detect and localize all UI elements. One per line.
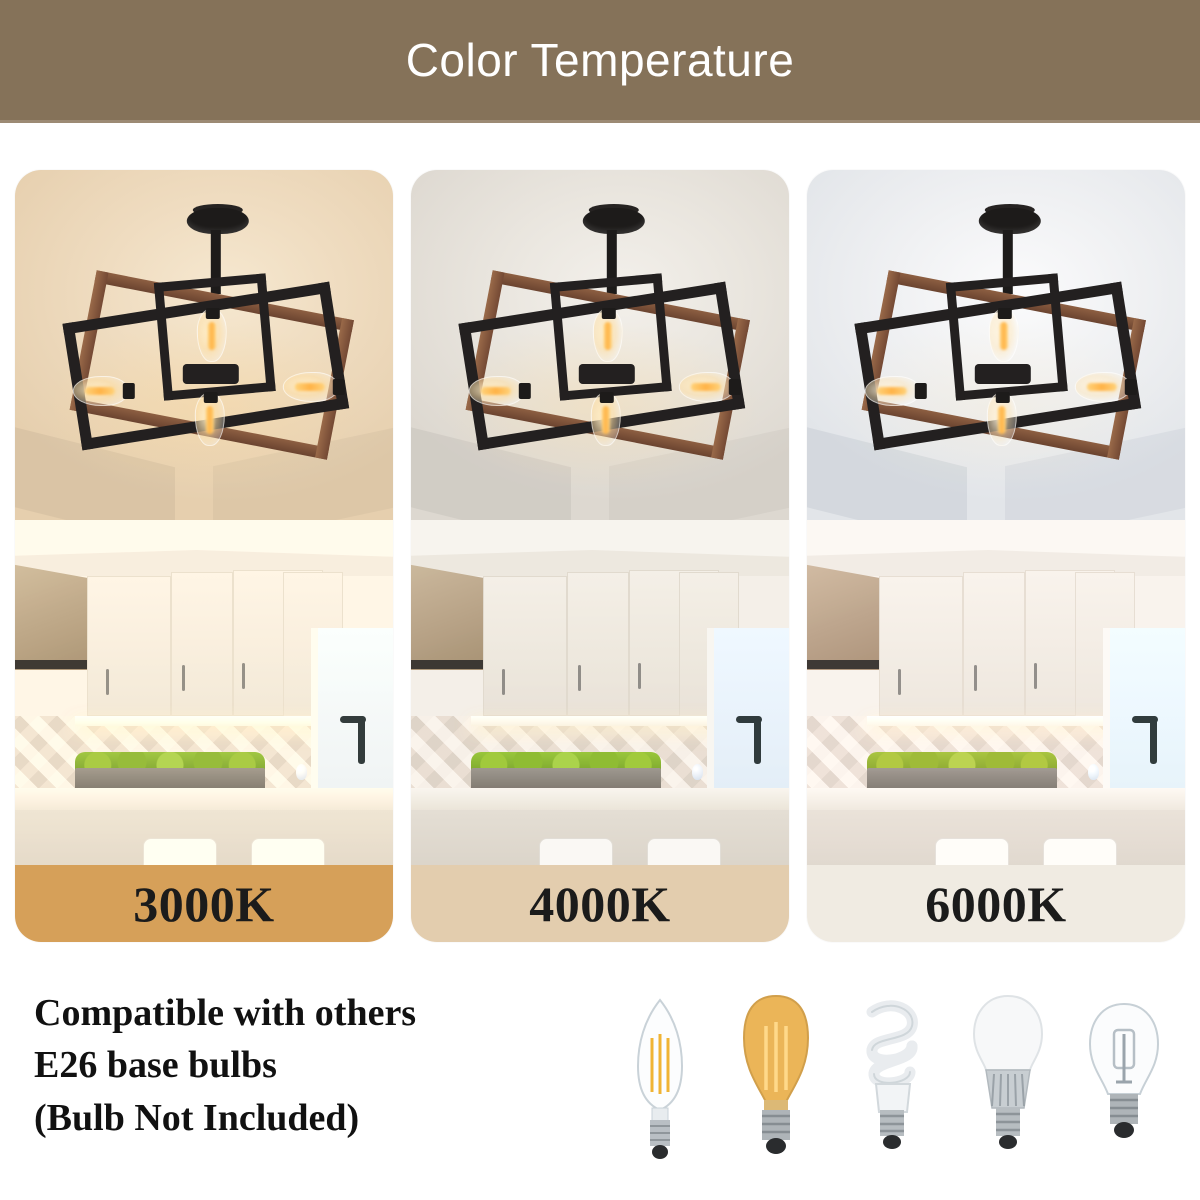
color-temp-band-6000k: 6000K: [807, 865, 1185, 942]
bar-stool: [935, 838, 1009, 865]
compat-line-2: E26 base bulbs: [34, 1039, 574, 1091]
ceiling-scene-3000k: [15, 170, 393, 520]
countertop: [15, 788, 393, 810]
upper-cabinet: [963, 572, 1025, 716]
under-cabinet-light: [75, 716, 335, 726]
kitchen-scene-6000k: [807, 520, 1185, 865]
ceiling-scene-4000k: [411, 170, 789, 520]
color-temp-label: 4000K: [529, 879, 670, 929]
upper-cabinet: [483, 576, 567, 716]
kitchen-scene-4000k: [411, 520, 789, 865]
edison-bulb-left: [73, 376, 135, 406]
faucet: [754, 716, 761, 764]
small-vase: [1088, 764, 1099, 780]
edison-bulb-left: [469, 376, 531, 406]
panel-6000k[interactable]: 6000K: [807, 170, 1185, 942]
countertop: [807, 788, 1185, 810]
color-temp-label: 3000K: [133, 879, 274, 929]
ceiling-light-fixture: [833, 198, 1173, 498]
ceiling-light-fixture: [437, 198, 777, 498]
header-divider: [0, 120, 1200, 123]
panel-4000k[interactable]: 4000K: [411, 170, 789, 942]
edison-bulb-back: [593, 308, 623, 368]
kitchen-scene-3000k: [15, 520, 393, 865]
compatible-bulb-strip: [612, 981, 1172, 1166]
color-temp-band-3000k: 3000K: [15, 865, 393, 942]
halogen-bulb-icon: [1076, 986, 1172, 1166]
moss-tray: [75, 768, 265, 790]
header-bar: Color Temperature: [0, 0, 1200, 120]
countertop: [411, 788, 789, 810]
color-temp-band-4000k: 4000K: [411, 865, 789, 942]
color-temperature-panels: 3000K: [15, 170, 1185, 942]
upper-cabinet: [87, 576, 171, 716]
moss-tray: [867, 768, 1057, 790]
compat-line-1: Compatible with others: [34, 987, 574, 1039]
panel-3000k[interactable]: 3000K: [15, 170, 393, 942]
led-bulb-icon: [960, 986, 1056, 1166]
edison-bulb-front: [987, 392, 1017, 452]
frame-assembly: [451, 272, 763, 482]
compat-line-3: (Bulb Not Included): [34, 1092, 574, 1144]
bar-stool: [539, 838, 613, 865]
small-vase: [296, 764, 307, 780]
bar-stool: [647, 838, 721, 865]
frame-assembly: [55, 272, 367, 482]
ceiling-light-fixture: [41, 198, 381, 498]
faucet: [1150, 716, 1157, 764]
kitchen-window: [707, 628, 789, 788]
edison-bulb-left: [865, 376, 927, 406]
frame-assembly: [847, 272, 1159, 482]
bar-stool: [1043, 838, 1117, 865]
upper-cabinet: [567, 572, 629, 716]
kitchen-window: [1103, 628, 1185, 788]
ceiling-scene-6000k: [807, 170, 1185, 520]
color-temp-label: 6000K: [925, 879, 1066, 929]
cfl-spiral-bulb-icon: [844, 986, 940, 1166]
under-cabinet-light: [471, 716, 731, 726]
candle-filament-bulb-icon: [612, 986, 708, 1166]
small-vase: [692, 764, 703, 780]
moss-tray: [471, 768, 661, 790]
edison-bulb-right: [1075, 372, 1137, 402]
bar-stool: [251, 838, 325, 865]
faucet: [358, 716, 365, 764]
edison-bulb-back: [989, 308, 1019, 368]
edison-bulb-front: [195, 392, 225, 452]
kitchen-window: [311, 628, 393, 788]
edison-bulb-right: [679, 372, 741, 402]
edison-bulb-right: [283, 372, 345, 402]
edison-bulb-front: [591, 392, 621, 452]
amber-edison-bulb-icon: [728, 986, 824, 1166]
upper-cabinet: [171, 572, 233, 716]
page-title: Color Temperature: [406, 37, 795, 83]
product-infographic: Color Temperature: [0, 0, 1200, 1200]
edison-bulb-back: [197, 308, 227, 368]
upper-cabinet: [879, 576, 963, 716]
compatibility-section: Compatible with others E26 base bulbs (B…: [0, 975, 1200, 1200]
compatibility-text: Compatible with others E26 base bulbs (B…: [34, 987, 574, 1144]
under-cabinet-light: [867, 716, 1127, 726]
bar-stool: [143, 838, 217, 865]
